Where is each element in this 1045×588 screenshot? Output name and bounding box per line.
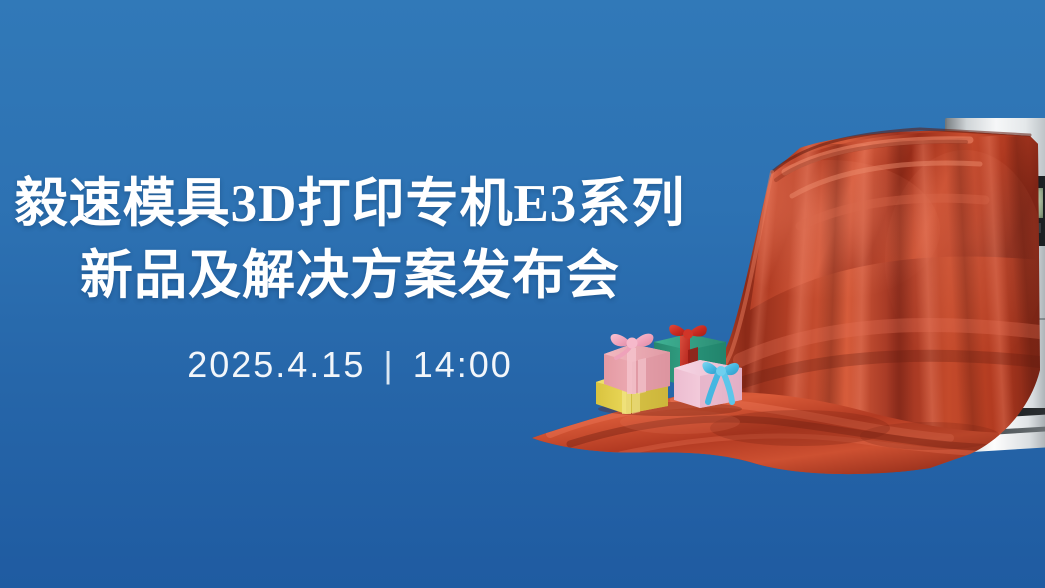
event-datetime: 2025.4.15|14:00 (0, 344, 700, 386)
poster-text-block: 毅速模具3D打印专机E3系列 新品及解决方案发布会 2025.4.15|14:0… (0, 168, 700, 386)
page-title-line-1: 毅速模具3D打印专机E3系列 (0, 168, 700, 240)
event-time: 14:00 (413, 344, 513, 385)
machine-body-top (947, 118, 1045, 176)
machine-screen-buttons (983, 223, 1041, 233)
datetime-separator: | (383, 344, 394, 386)
3d-printer-machine (937, 118, 1045, 448)
machine-seam (945, 318, 1045, 320)
machine-lcd-screen (981, 188, 1043, 218)
page-title-line-2: 新品及解决方案发布会 (0, 240, 700, 312)
event-date: 2025.4.15 (187, 344, 365, 385)
event-poster: 毅速模具3D打印专机E3系列 新品及解决方案发布会 2025.4.15|14:0… (0, 0, 1045, 588)
machine-mid-section (945, 246, 1045, 418)
